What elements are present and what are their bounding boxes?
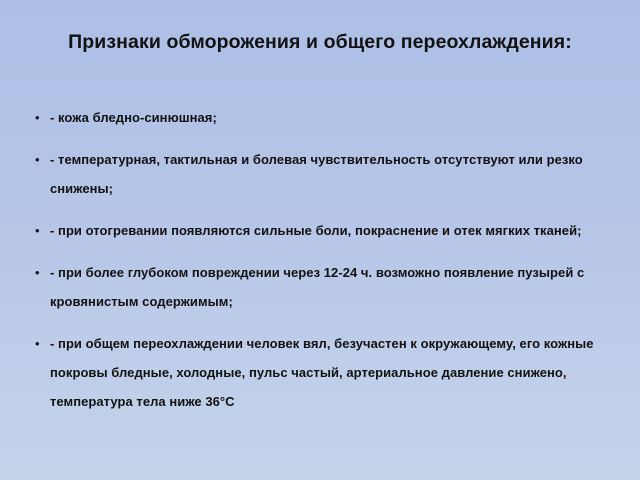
list-item: • - при отогревании появляются сильные б… <box>0 216 640 245</box>
bullet-dot-icon: • <box>35 103 45 132</box>
presentation-slide: Признаки обморожения и общего переохлажд… <box>0 0 640 480</box>
bullet-dot-icon: • <box>35 329 45 358</box>
list-item-label: - при более глубоком повреждении через 1… <box>50 258 602 316</box>
bullet-dot-icon: • <box>35 216 45 245</box>
bullet-dot-icon: • <box>35 145 45 174</box>
list-item-label: - кожа бледно-синюшная; <box>50 103 602 132</box>
bullet-dot-icon: • <box>35 258 45 287</box>
list-item: • - при более глубоком повреждении через… <box>0 258 640 316</box>
list-item: • - кожа бледно-синюшная; <box>0 103 640 132</box>
list-item: • - при общем переохлаждении человек вял… <box>0 329 640 416</box>
list-item-label: - при общем переохлаждении человек вял, … <box>50 329 602 416</box>
list-item: • - температурная, тактильная и болевая … <box>0 145 640 203</box>
page-title: Признаки обморожения и общего переохлажд… <box>60 30 580 55</box>
bullet-list: • - кожа бледно-синюшная; • - температур… <box>0 103 640 429</box>
list-item-label: - температурная, тактильная и болевая чу… <box>50 145 602 203</box>
list-item-label: - при отогревании появляются сильные бол… <box>50 216 602 245</box>
